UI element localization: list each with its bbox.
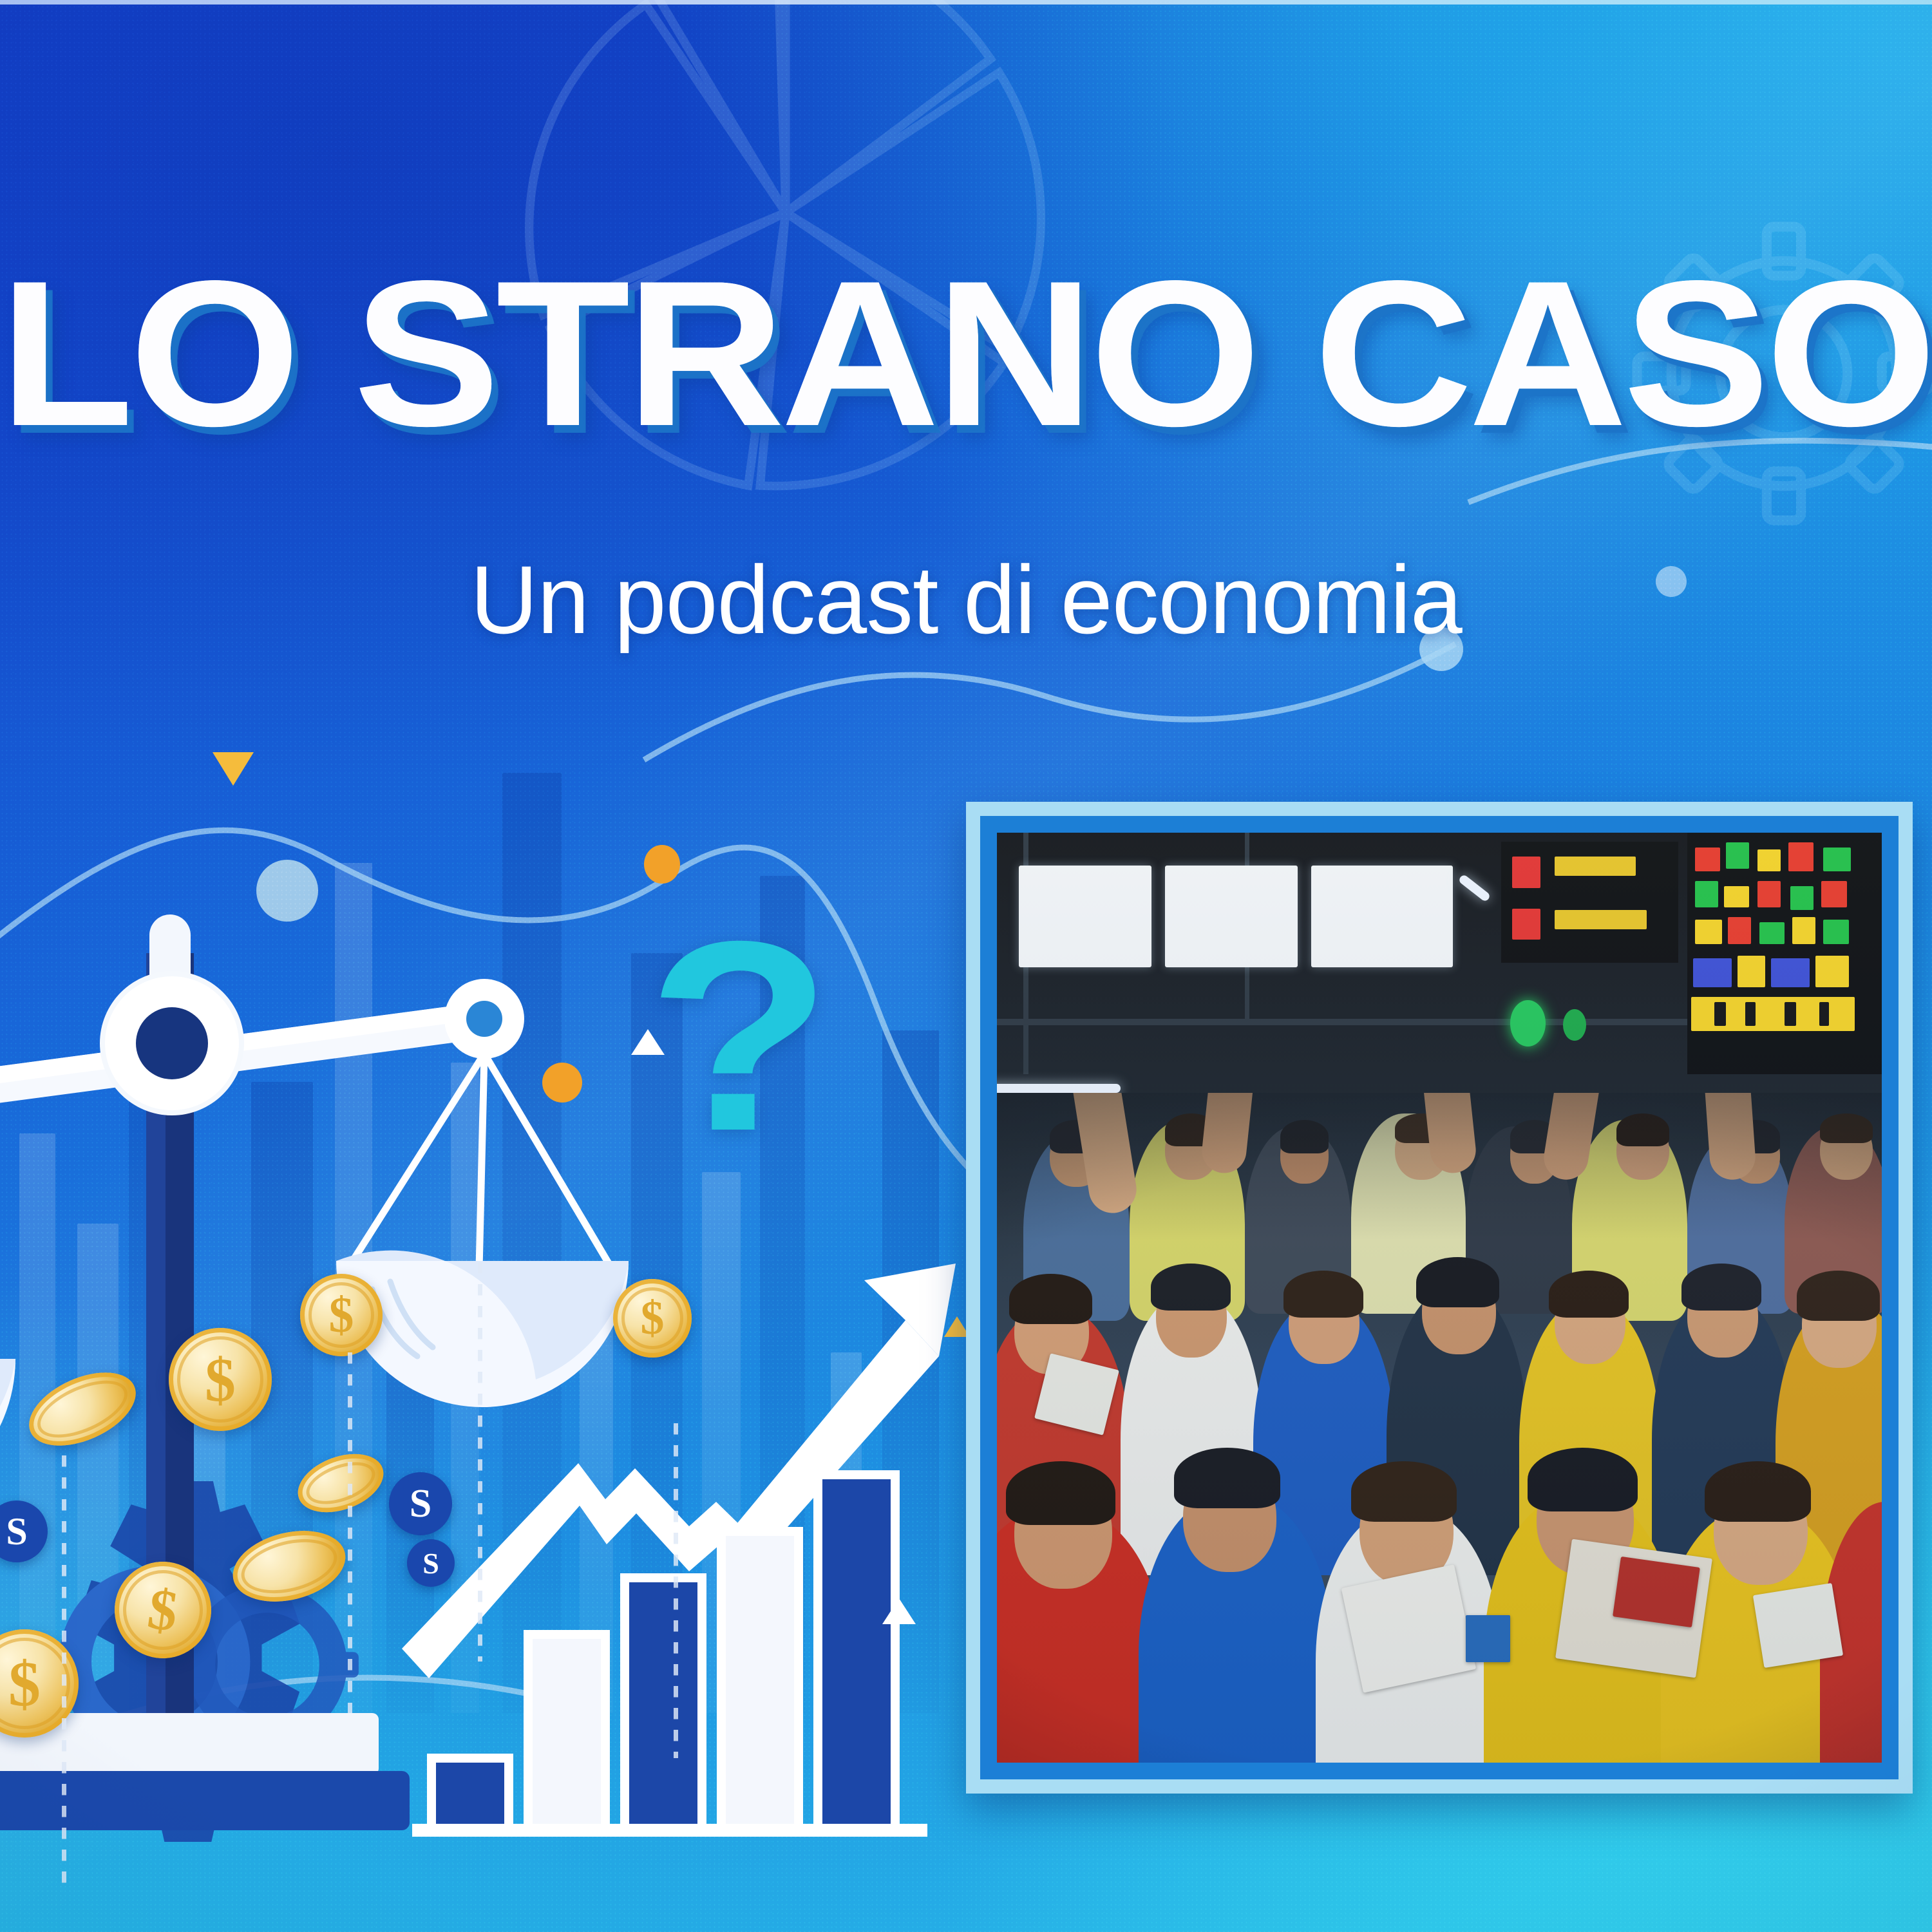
- coin-symbol: $: [205, 1344, 236, 1416]
- badge-symbol: S: [410, 1481, 431, 1527]
- dotted-guide-line: [674, 1423, 678, 1758]
- triangle-down-icon: [213, 752, 254, 786]
- dotted-guide-line: [478, 1262, 482, 1662]
- coin-icon: $: [169, 1328, 272, 1431]
- top-edge-highlight: [0, 0, 1932, 5]
- trading-floor-photo: [997, 833, 1882, 1763]
- triangle-up-icon: [631, 1029, 665, 1055]
- question-mark-icon: ?: [647, 902, 832, 1172]
- dollar-badge-icon: S: [407, 1539, 455, 1587]
- badge-symbol: S: [6, 1510, 27, 1554]
- dollar-badge-icon: S: [389, 1472, 452, 1535]
- coin-symbol: $: [329, 1286, 354, 1344]
- coin-symbol: $: [641, 1291, 665, 1346]
- coin-symbol: $: [8, 1647, 41, 1721]
- coin-icon: $: [300, 1274, 383, 1356]
- podcast-cover: LO STRANO CASO Un podcast di economia: [0, 0, 1932, 1932]
- bar-chart: [412, 1365, 927, 1855]
- dotted-guide-line: [348, 1352, 352, 1713]
- orange-dot-decoration: [542, 1063, 582, 1103]
- badge-symbol: S: [422, 1546, 439, 1580]
- coin-icon: $: [613, 1279, 692, 1358]
- photo-frame: [966, 802, 1913, 1794]
- triangle-up-icon: [882, 1598, 916, 1624]
- orange-dot-decoration: [644, 845, 680, 884]
- dotted-guide-line: [62, 1455, 66, 1893]
